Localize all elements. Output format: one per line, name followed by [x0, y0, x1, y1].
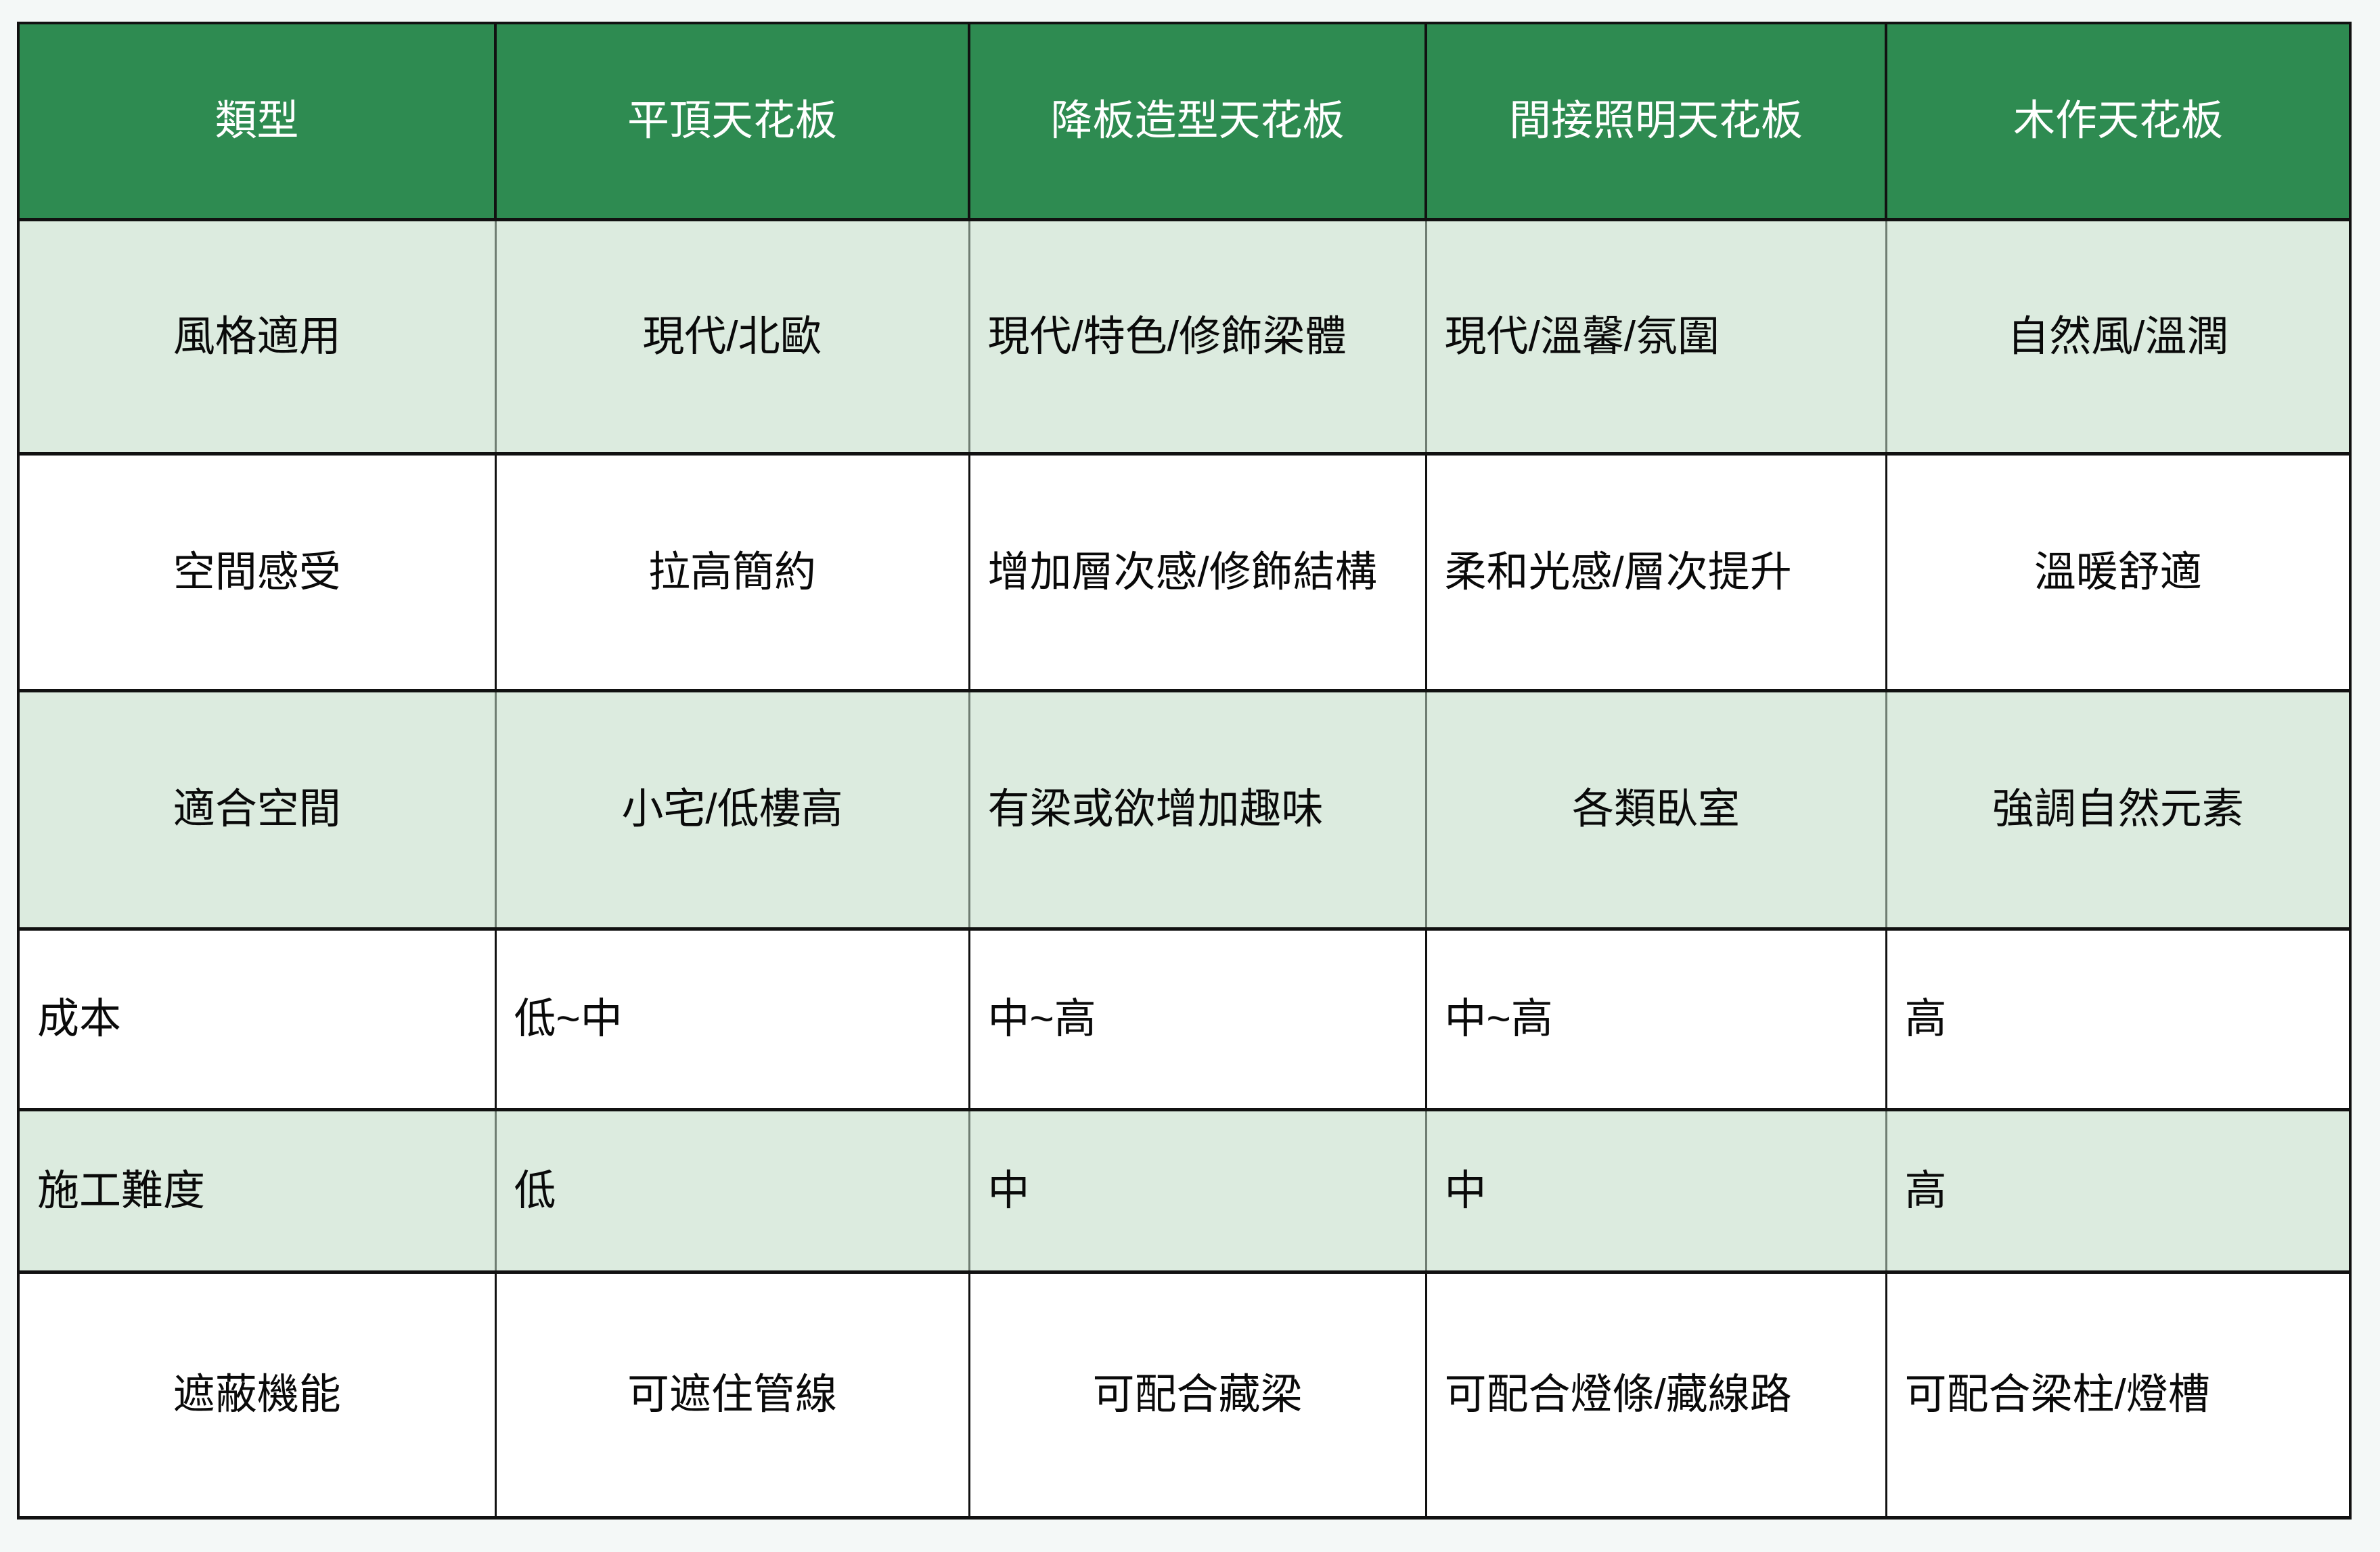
column-header-light: 間接照明天花板	[1426, 23, 1886, 219]
table-body: 風格適用 現代/北歐 現代/特色/修飾梁體 現代/溫馨/氛圍 自然風/溫潤 空間…	[18, 219, 2350, 1518]
cell-difficulty-wood: 高	[1886, 1109, 2350, 1272]
table-row: 適合空間 小宅/低樓高 有梁或欲增加趣味 各類臥室 強調自然元素	[18, 690, 2350, 929]
cell-cost-drop: 中~高	[969, 929, 1426, 1109]
cell-feel-light: 柔和光感/層次提升	[1426, 454, 1886, 690]
column-header-drop: 降板造型天花板	[969, 23, 1426, 219]
header-row: 類型 平頂天花板 降板造型天花板 間接照明天花板 木作天花板	[18, 23, 2350, 219]
table-header: 類型 平頂天花板 降板造型天花板 間接照明天花板 木作天花板	[18, 23, 2350, 219]
cell-difficulty-flat: 低	[495, 1109, 969, 1272]
table-row: 空間感受 拉高簡約 增加層次感/修飾結構 柔和光感/層次提升 溫暖舒適	[18, 454, 2350, 690]
cell-cost-flat: 低~中	[495, 929, 969, 1109]
row-label-cost: 成本	[18, 929, 495, 1109]
cell-space-flat: 小宅/低樓高	[495, 690, 969, 929]
column-header-wood: 木作天花板	[1886, 23, 2350, 219]
table-row: 成本 低~中 中~高 中~高 高	[18, 929, 2350, 1109]
row-label-space: 適合空間	[18, 690, 495, 929]
cell-cost-light: 中~高	[1426, 929, 1886, 1109]
table-row: 施工難度 低 中 中 高	[18, 1109, 2350, 1272]
row-label-feel: 空間感受	[18, 454, 495, 690]
cell-style-light: 現代/溫馨/氛圍	[1426, 219, 1886, 454]
cell-style-flat: 現代/北歐	[495, 219, 969, 454]
cell-cover-flat: 可遮住管線	[495, 1272, 969, 1517]
cell-space-drop: 有梁或欲增加趣味	[969, 690, 1426, 929]
cell-space-light: 各類臥室	[1426, 690, 1886, 929]
cell-style-wood: 自然風/溫潤	[1886, 219, 2350, 454]
table-row: 遮蔽機能 可遮住管線 可配合藏梁 可配合燈條/藏線路 可配合梁柱/燈槽	[18, 1272, 2350, 1517]
ceiling-comparison-table: 類型 平頂天花板 降板造型天花板 間接照明天花板 木作天花板 風格適用 現代/北…	[17, 22, 2352, 1520]
cell-difficulty-light: 中	[1426, 1109, 1886, 1272]
cell-space-wood: 強調自然元素	[1886, 690, 2350, 929]
row-label-cover: 遮蔽機能	[18, 1272, 495, 1517]
column-header-flat: 平頂天花板	[495, 23, 969, 219]
ceiling-comparison-table-wrapper: 類型 平頂天花板 降板造型天花板 間接照明天花板 木作天花板 風格適用 現代/北…	[17, 22, 2349, 1520]
cell-cover-drop: 可配合藏梁	[969, 1272, 1426, 1517]
cell-cover-light: 可配合燈條/藏線路	[1426, 1272, 1886, 1517]
cell-style-drop: 現代/特色/修飾梁體	[969, 219, 1426, 454]
cell-cover-wood: 可配合梁柱/燈槽	[1886, 1272, 2350, 1517]
cell-feel-drop: 增加層次感/修飾結構	[969, 454, 1426, 690]
cell-cost-wood: 高	[1886, 929, 2350, 1109]
table-row: 風格適用 現代/北歐 現代/特色/修飾梁體 現代/溫馨/氛圍 自然風/溫潤	[18, 219, 2350, 454]
cell-feel-flat: 拉高簡約	[495, 454, 969, 690]
cell-difficulty-drop: 中	[969, 1109, 1426, 1272]
row-label-difficulty: 施工難度	[18, 1109, 495, 1272]
column-header-type: 類型	[18, 23, 495, 219]
row-label-style: 風格適用	[18, 219, 495, 454]
cell-feel-wood: 溫暖舒適	[1886, 454, 2350, 690]
